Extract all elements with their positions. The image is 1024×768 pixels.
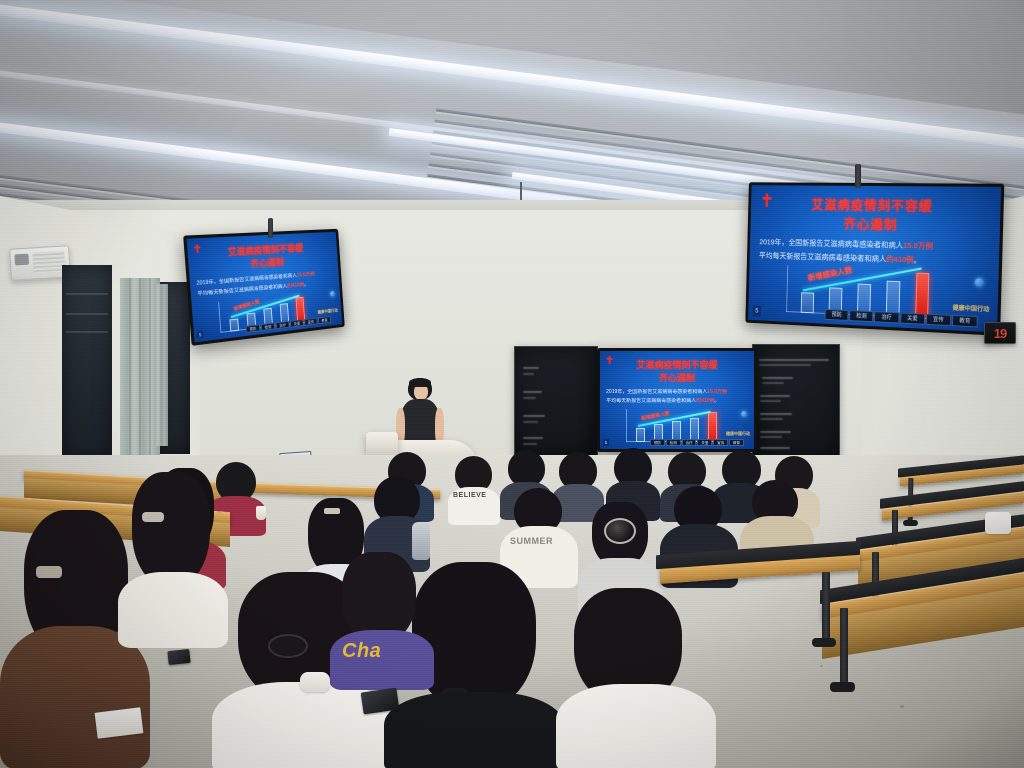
front-projection-screen[interactable]: ✝ 艾滋病疫情刻不容缓 齐心遏制 2019年，全国新报告艾滋病病毒感染者和病人1…	[597, 348, 757, 452]
slide-logo-text: 健康中国行动	[317, 308, 338, 316]
slide-footer-item: 关爱	[900, 312, 925, 324]
slide-footer-item: 预防	[825, 309, 849, 321]
desk-front-right-leg	[822, 572, 830, 640]
handout-paper	[95, 707, 144, 738]
ac-vent-icon	[14, 254, 29, 266]
slide-body-line2: 平均每天新报告艾滋病病毒感染者和病人约410例。	[606, 398, 748, 405]
ac-grill	[32, 250, 65, 273]
slide-footer-item: 教育	[729, 439, 744, 446]
hair-clip	[36, 566, 62, 578]
wall-clock: 19	[984, 322, 1016, 344]
desk-tissue-pack	[985, 512, 1011, 534]
slide-footer-item: 治疗	[682, 439, 697, 446]
desk-front-right-foot	[812, 638, 836, 647]
hair-tie	[324, 508, 340, 514]
audience-person-far-3: BELIEVE	[448, 456, 500, 520]
left-window-panel-1	[62, 265, 112, 460]
slide-bar-chart: 新增感染人数	[626, 409, 724, 442]
blackboard-left	[514, 346, 598, 458]
wall-clock-value: 19	[994, 326, 1006, 341]
left-monitor-mount	[268, 218, 273, 238]
right-monitor-mount	[855, 164, 861, 188]
hair-clip	[604, 518, 636, 544]
slide-body-line1: 2019年，全国新报告艾滋病病毒感染者和病人15.0万例	[606, 389, 748, 396]
slide-page-number: 5	[197, 331, 204, 339]
slide-footer-item: 检测	[849, 310, 873, 322]
audience-person-front-6: Cha	[330, 552, 434, 682]
slide-page-number: 5	[603, 439, 609, 446]
slide-footer-item: 检测	[666, 439, 681, 446]
slide-footer-strip: 预防 检测 治疗 关爱 宣传 教育	[650, 439, 744, 446]
slide-footer-item: 治疗	[276, 321, 290, 329]
student-phone-2	[167, 649, 190, 665]
hair-clip	[142, 512, 164, 522]
slide-footer-item: 宣传	[926, 314, 952, 326]
scrunchie	[268, 634, 308, 658]
front-screen-slide: ✝ 艾滋病疫情刻不容缓 齐心遏制 2019年，全国新报告艾滋病病毒感染者和病人1…	[600, 351, 754, 449]
slide-footer-item: 关爱	[697, 439, 712, 446]
slide-footer-item: 教育	[318, 316, 331, 324]
slide-footer-item: 治疗	[874, 311, 899, 323]
blackboard-right	[752, 344, 840, 461]
apparel-text-summer: SUMMER	[510, 536, 553, 546]
audience-person-front-5	[556, 588, 716, 768]
right-wall-monitor[interactable]: ✝ 艾滋病疫情刻不容缓 齐心遏制 2019年，全国新报告艾滋病病毒感染者和病人1…	[745, 182, 1004, 336]
slide-footer-item: 预防	[246, 324, 261, 333]
apparel-text-cha: Cha	[342, 640, 381, 663]
apparel-text-believe: BELIEVE	[453, 492, 486, 499]
slide-footer-item: 预防	[650, 439, 665, 446]
left-monitor-slide: ✝ 艾滋病疫情刻不容缓 齐心遏制 2019年，全国新报告艾滋病病毒感染者和病人1…	[187, 232, 343, 343]
lecture-hall-photo: ✝ 艾滋病疫情刻不容缓 齐心遏制 2019年，全国新报告艾滋病病毒感染者和病人1…	[0, 0, 1024, 768]
slide-footer-item: 教育	[952, 315, 978, 328]
slide-title-line2: 齐心遏制	[600, 371, 754, 384]
slide-badge-icon	[741, 411, 747, 417]
slide-footer-item: 关爱	[290, 319, 304, 327]
slide-title-line1: 艾滋病疫情刻不容缓	[600, 358, 754, 371]
slide-badge-icon	[330, 291, 335, 297]
slide-logo-text: 健康中国行动	[952, 303, 989, 314]
slide-title-line2: 齐心遏制	[750, 212, 1000, 236]
torso	[556, 684, 716, 768]
hair	[132, 472, 210, 588]
left-curtain-2	[152, 284, 168, 446]
right-monitor-slide: ✝ 艾滋病疫情刻不容缓 齐心遏制 2019年，全国新报告艾滋病病毒感染者和病人1…	[748, 185, 1001, 332]
slide-logo-text: 健康中国行动	[726, 431, 750, 437]
slide-badge-icon	[975, 278, 985, 288]
slide-footer-item: 宣传	[304, 318, 317, 326]
left-wall-monitor[interactable]: ✝ 艾滋病疫情刻不容缓 齐心遏制 2019年，全国新报告艾滋病病毒感染者和病人1…	[183, 229, 345, 346]
presenter-fringe	[409, 378, 431, 387]
water-cup	[256, 506, 266, 520]
slide-footer-item: 宣传	[713, 439, 728, 446]
torso	[384, 692, 564, 768]
slide-page-number: 5	[753, 306, 761, 317]
slide-footer-item: 检测	[261, 322, 275, 331]
tissue-on-desk	[300, 672, 330, 692]
